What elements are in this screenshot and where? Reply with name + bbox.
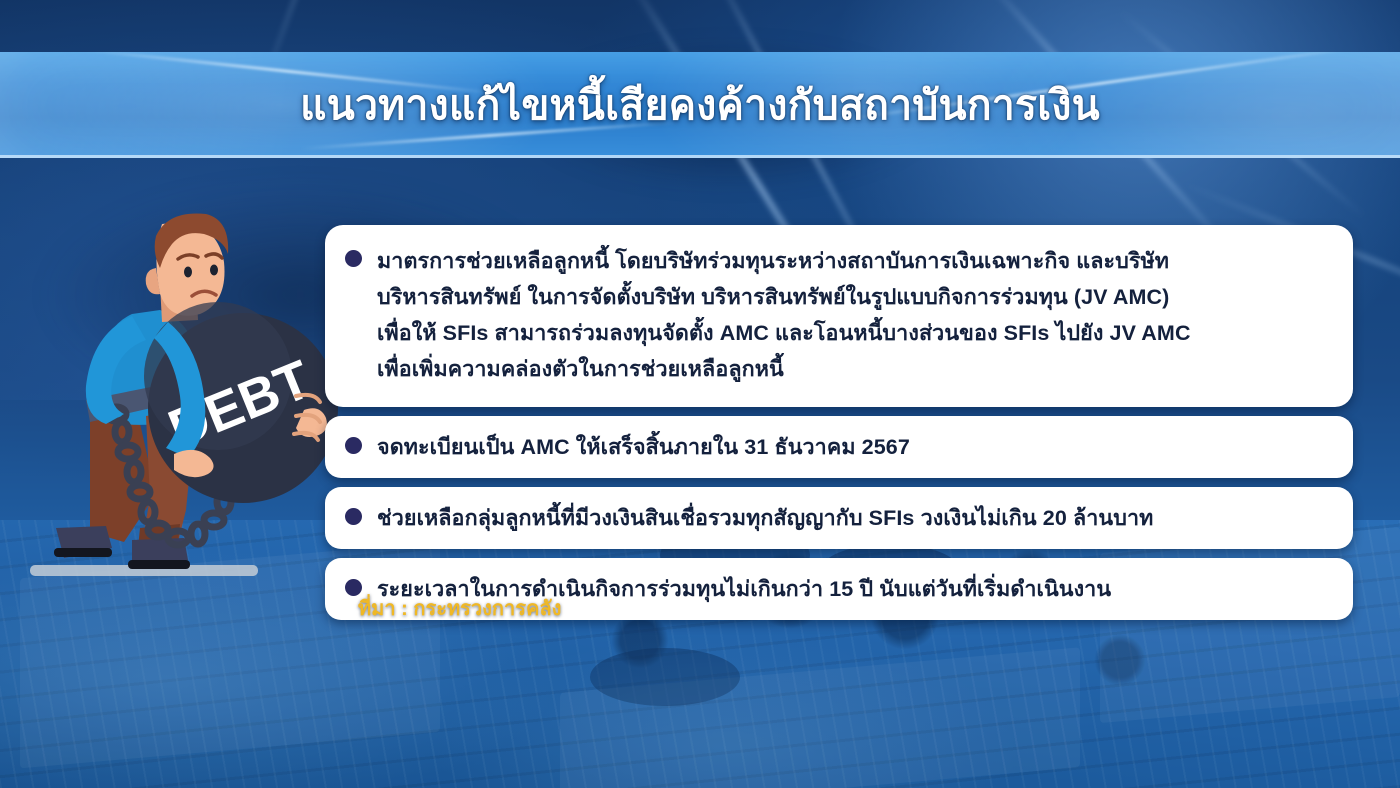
bullet-card-3-text: ช่วยเหลือกลุ่มลูกหนี้ที่มีวงเงินสินเชื่อ… [377, 501, 1331, 535]
source-credit: ที่มา : กระทรวงการคลัง [358, 592, 561, 624]
title-band: แนวทางแก้ไขหนี้เสียคงค้างกับสถาบันการเงิ… [0, 52, 1400, 158]
coin-loose-1 [590, 648, 740, 706]
front-shoe-sole [128, 560, 190, 569]
bullet-card-list: มาตรการช่วยเหลือลูกหนี้ โดยบริษัทร่วมทุน… [325, 225, 1353, 629]
bullet-card-2-text: จดทะเบียนเป็น AMC ให้เสร็จสิ้นภายใน 31 ธ… [377, 430, 1331, 464]
card-1-line-2: บริหารสินทรัพย์ ในการจัดตั้งบริษัท บริหา… [377, 279, 1331, 315]
bullet-card-3: ช่วยเหลือกลุ่มลูกหนี้ที่มีวงเงินสินเชื่อ… [325, 487, 1353, 549]
bullet-card-2: จดทะเบียนเป็น AMC ให้เสร็จสิ้นภายใน 31 ธ… [325, 416, 1353, 478]
bullet-dot-icon [345, 250, 362, 267]
card-1-line-4: เพื่อเพิ่มความคล่องตัวในการช่วยเหลือลูกห… [377, 351, 1331, 387]
back-shoe-sole [54, 548, 112, 557]
page-title: แนวทางแก้ไขหนี้เสียคงค้างกับสถาบันการเงิ… [0, 52, 1400, 158]
bullet-dot-icon [345, 437, 362, 454]
bullet-card-1: มาตรการช่วยเหลือลูกหนี้ โดยบริษัทร่วมทุน… [325, 225, 1353, 407]
debt-illustration: DEBT [28, 210, 338, 590]
banknote-2 [560, 647, 1080, 788]
bullet-card-1-text: มาตรการช่วยเหลือลูกหนี้ โดยบริษัทร่วมทุน… [377, 243, 1331, 387]
bullet-dot-icon [345, 508, 362, 525]
card-1-line-3: เพื่อให้ SFIs สามารถร่วมลงทุนจัดตั้ง AMC… [377, 315, 1331, 351]
eye-left [184, 267, 192, 278]
eye-right [210, 265, 218, 276]
card-1-line-1: มาตรการช่วยเหลือลูกหนี้ โดยบริษัทร่วมทุน… [377, 243, 1331, 279]
